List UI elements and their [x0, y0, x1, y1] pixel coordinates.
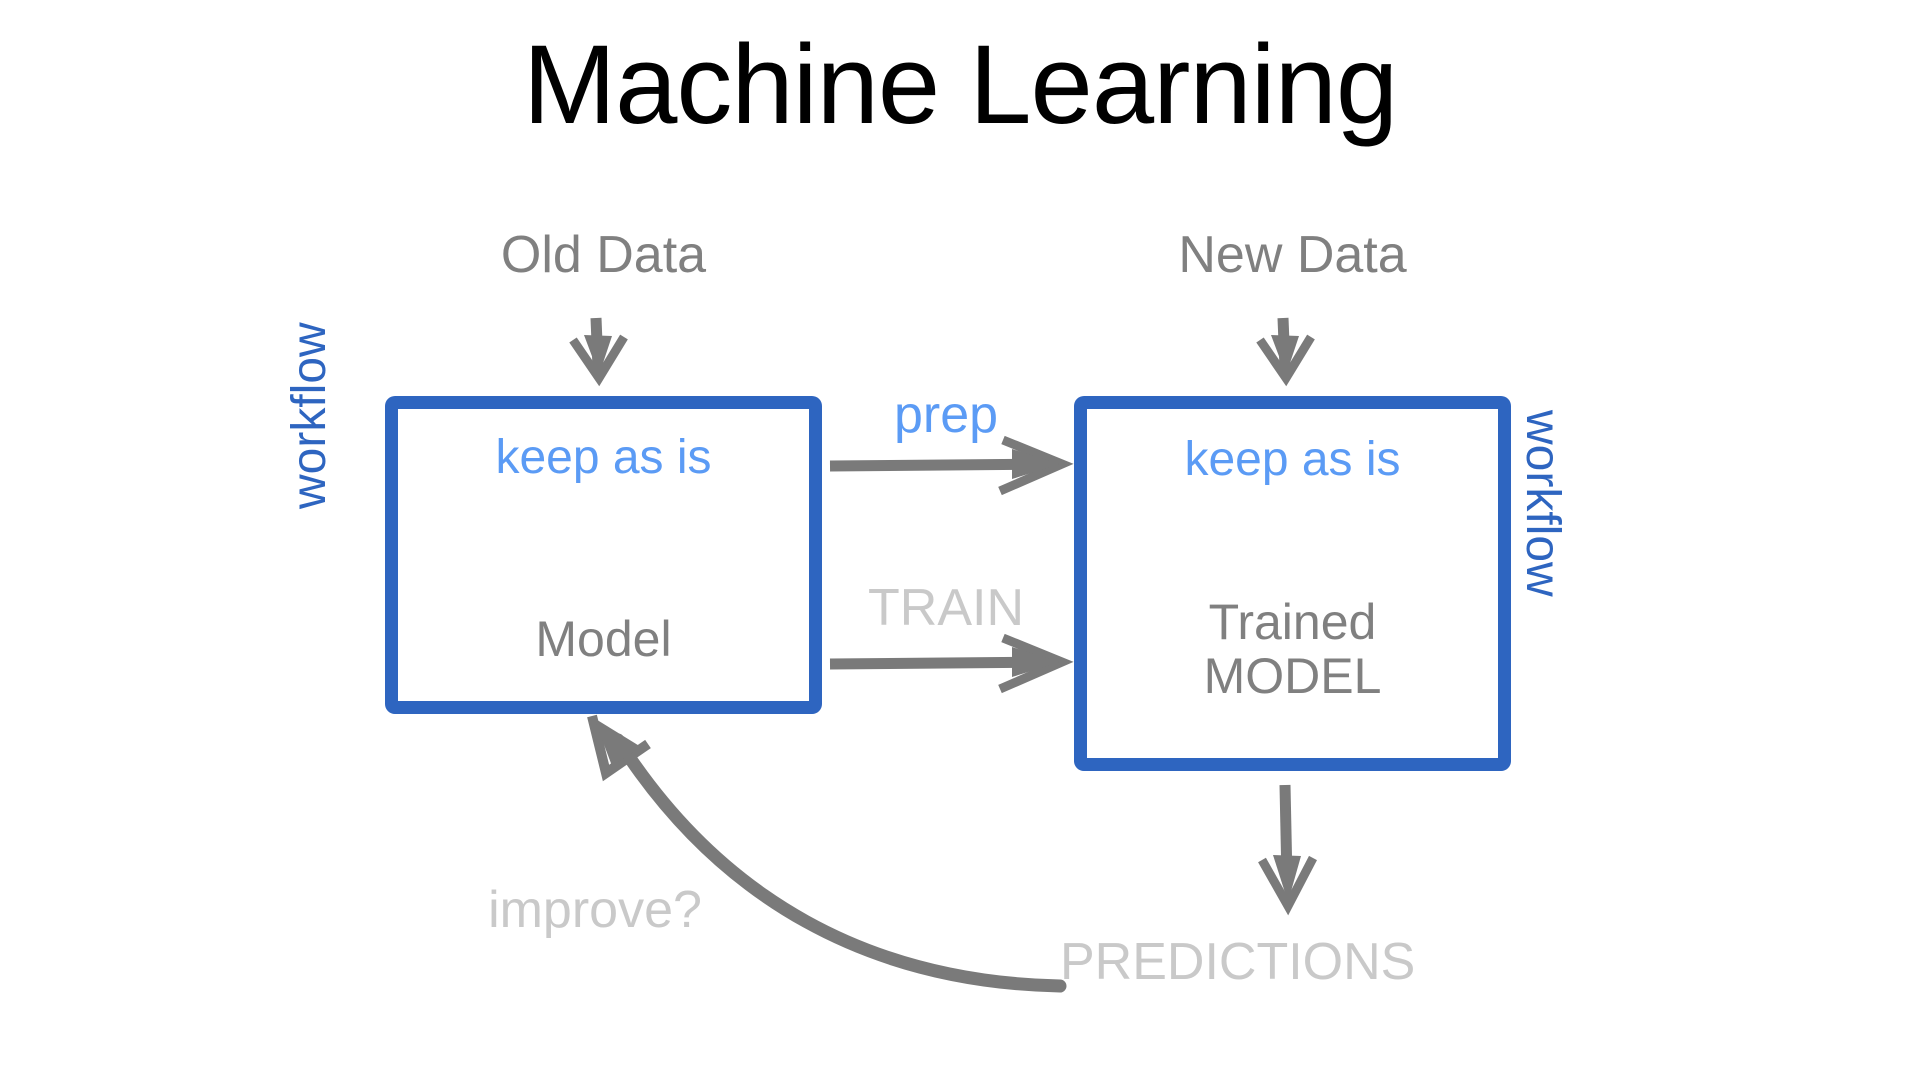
curved-feedback-arrow-icon	[592, 716, 1060, 986]
trained-model-line1: Trained	[1074, 595, 1511, 649]
new-data-label: New Data	[1074, 225, 1511, 285]
diagram-canvas: Machine Learning	[0, 0, 1920, 1080]
train-label: TRAIN	[836, 578, 1056, 638]
keep-as-is-label-right: keep as is	[1074, 432, 1511, 487]
predictions-label: PREDICTIONS	[1060, 932, 1480, 992]
model-label-left: Model	[385, 612, 822, 666]
right-arrow-icon-train	[830, 638, 1062, 689]
prep-label: prep	[846, 385, 1046, 445]
old-data-label: Old Data	[385, 225, 822, 285]
down-arrow-icon-old-data	[573, 318, 624, 378]
arrows-layer	[0, 0, 1920, 1080]
workflow-label-left: workflow	[282, 209, 337, 509]
improve-label: improve?	[455, 880, 735, 940]
workflow-label-right: workflow	[1515, 410, 1570, 710]
down-arrow-icon-predictions	[1262, 785, 1313, 906]
down-arrow-icon-new-data	[1260, 318, 1311, 378]
trained-model-line2: MODEL	[1074, 649, 1511, 703]
keep-as-is-label-left: keep as is	[385, 430, 822, 485]
trained-model-label: Trained MODEL	[1074, 595, 1511, 703]
right-arrow-icon-prep	[830, 440, 1062, 491]
page-title: Machine Learning	[0, 20, 1920, 149]
